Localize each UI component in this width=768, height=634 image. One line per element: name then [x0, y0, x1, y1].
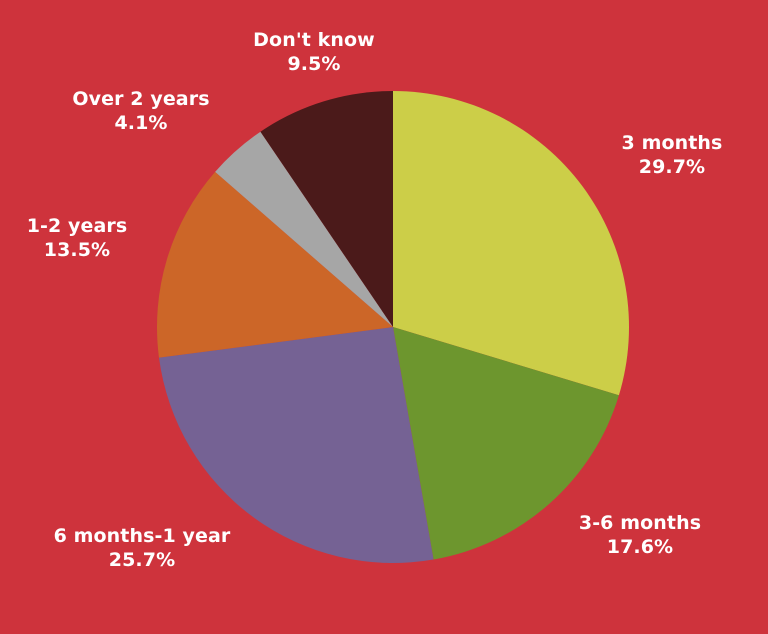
pie-label-value: 17.6% [579, 535, 701, 559]
pie-label-value: 13.5% [27, 238, 128, 262]
pie-label-name: 1-2 years [27, 214, 128, 238]
pie-label-6-months-1-year: 6 months-1 year 25.7% [54, 524, 231, 573]
pie-label-name: 3 months [622, 131, 723, 155]
pie-label-value: 4.1% [72, 111, 209, 135]
pie-slice-group [157, 91, 629, 563]
pie-label-value: 29.7% [622, 155, 723, 179]
pie-chart-figure: 3 months 29.7% 3-6 months 17.6% 6 months… [0, 0, 768, 634]
pie-label-dont-know: Don't know 9.5% [253, 28, 375, 77]
pie-label-value: 9.5% [253, 52, 375, 76]
pie-label-value: 25.7% [54, 548, 231, 572]
pie-label-name: 3-6 months [579, 511, 701, 535]
pie-label-name: Over 2 years [72, 87, 209, 111]
pie-label-name: 6 months-1 year [54, 524, 231, 548]
pie-label-3-6-months: 3-6 months 17.6% [579, 511, 701, 560]
pie-label-name: Don't know [253, 28, 375, 52]
pie-label-3-months: 3 months 29.7% [622, 131, 723, 180]
pie-label-over-2-years: Over 2 years 4.1% [72, 87, 209, 136]
pie-label-1-2-years: 1-2 years 13.5% [27, 214, 128, 263]
